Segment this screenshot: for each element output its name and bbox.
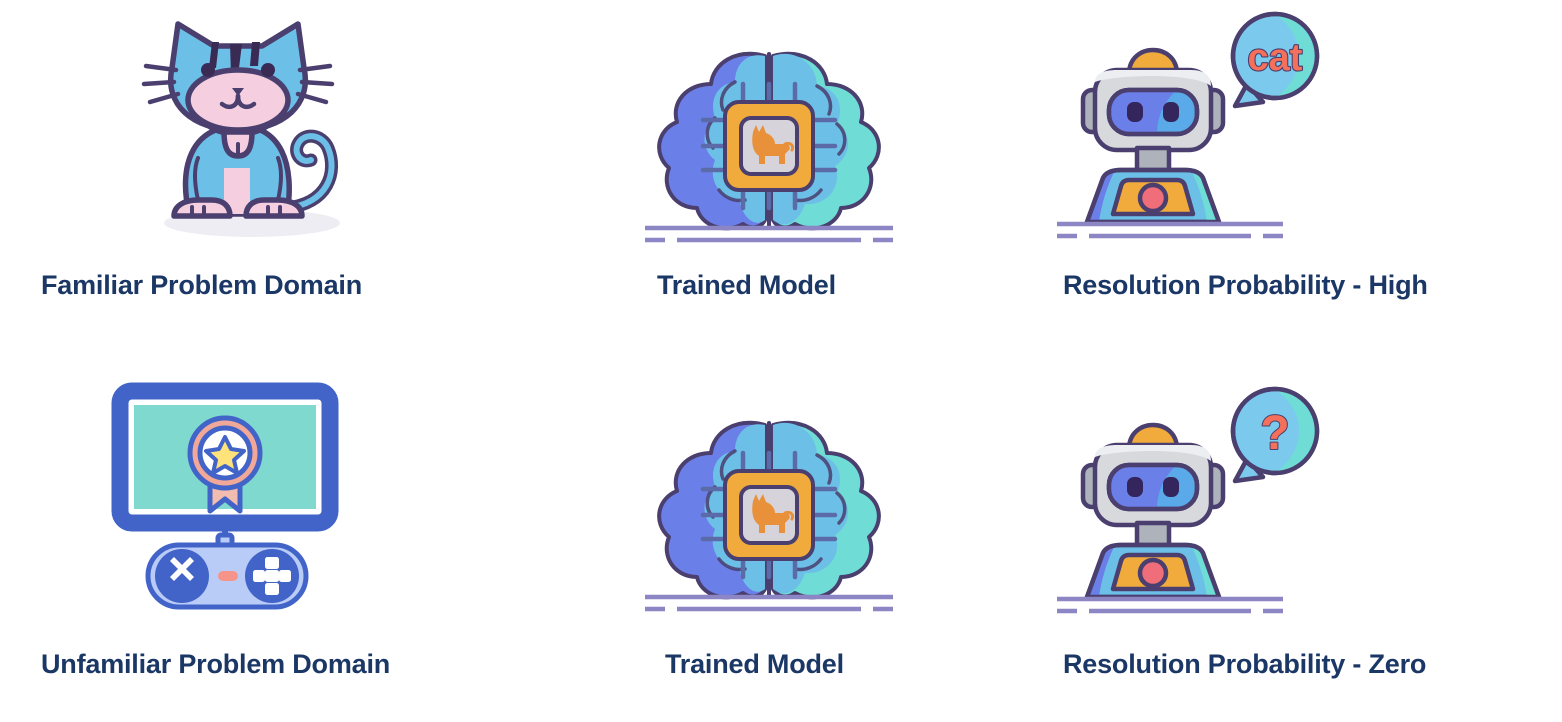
caption-familiar-domain: Familiar Problem Domain bbox=[41, 270, 362, 301]
cat-icon bbox=[132, 8, 352, 248]
caption-unfamiliar-domain: Unfamiliar Problem Domain bbox=[41, 649, 390, 680]
caption-resolution-high: Resolution Probability - High bbox=[1063, 270, 1428, 301]
cell-unfamiliar-domain: Unfamiliar Problem Domain bbox=[0, 361, 616, 722]
cell-resolution-zero: ? bbox=[1051, 361, 1562, 722]
bubble-text: cat bbox=[1248, 37, 1303, 79]
cell-familiar-domain: Familiar Problem Domain bbox=[0, 0, 616, 361]
brain-chip-icon bbox=[639, 40, 899, 250]
game-screen-gamepad-icon bbox=[110, 385, 370, 615]
speech-bubble: ? bbox=[1233, 389, 1317, 481]
caption-trained-model-1: Trained Model bbox=[657, 270, 836, 301]
caption-trained-model-2: Trained Model bbox=[665, 649, 844, 680]
cell-trained-model-1: Trained Model bbox=[616, 0, 1051, 361]
cell-resolution-high: cat bbox=[1051, 0, 1562, 361]
diagram-grid: Familiar Problem Domain bbox=[0, 0, 1562, 722]
caption-resolution-zero: Resolution Probability - Zero bbox=[1063, 649, 1426, 680]
brain-chip-icon bbox=[639, 409, 899, 619]
robot-question-bubble-icon: ? bbox=[1051, 383, 1351, 623]
speech-bubble: cat bbox=[1233, 14, 1317, 106]
cell-trained-model-2: Trained Model bbox=[616, 361, 1051, 722]
bubble-text: ? bbox=[1260, 407, 1289, 460]
robot-cat-bubble-icon: cat bbox=[1051, 8, 1351, 248]
